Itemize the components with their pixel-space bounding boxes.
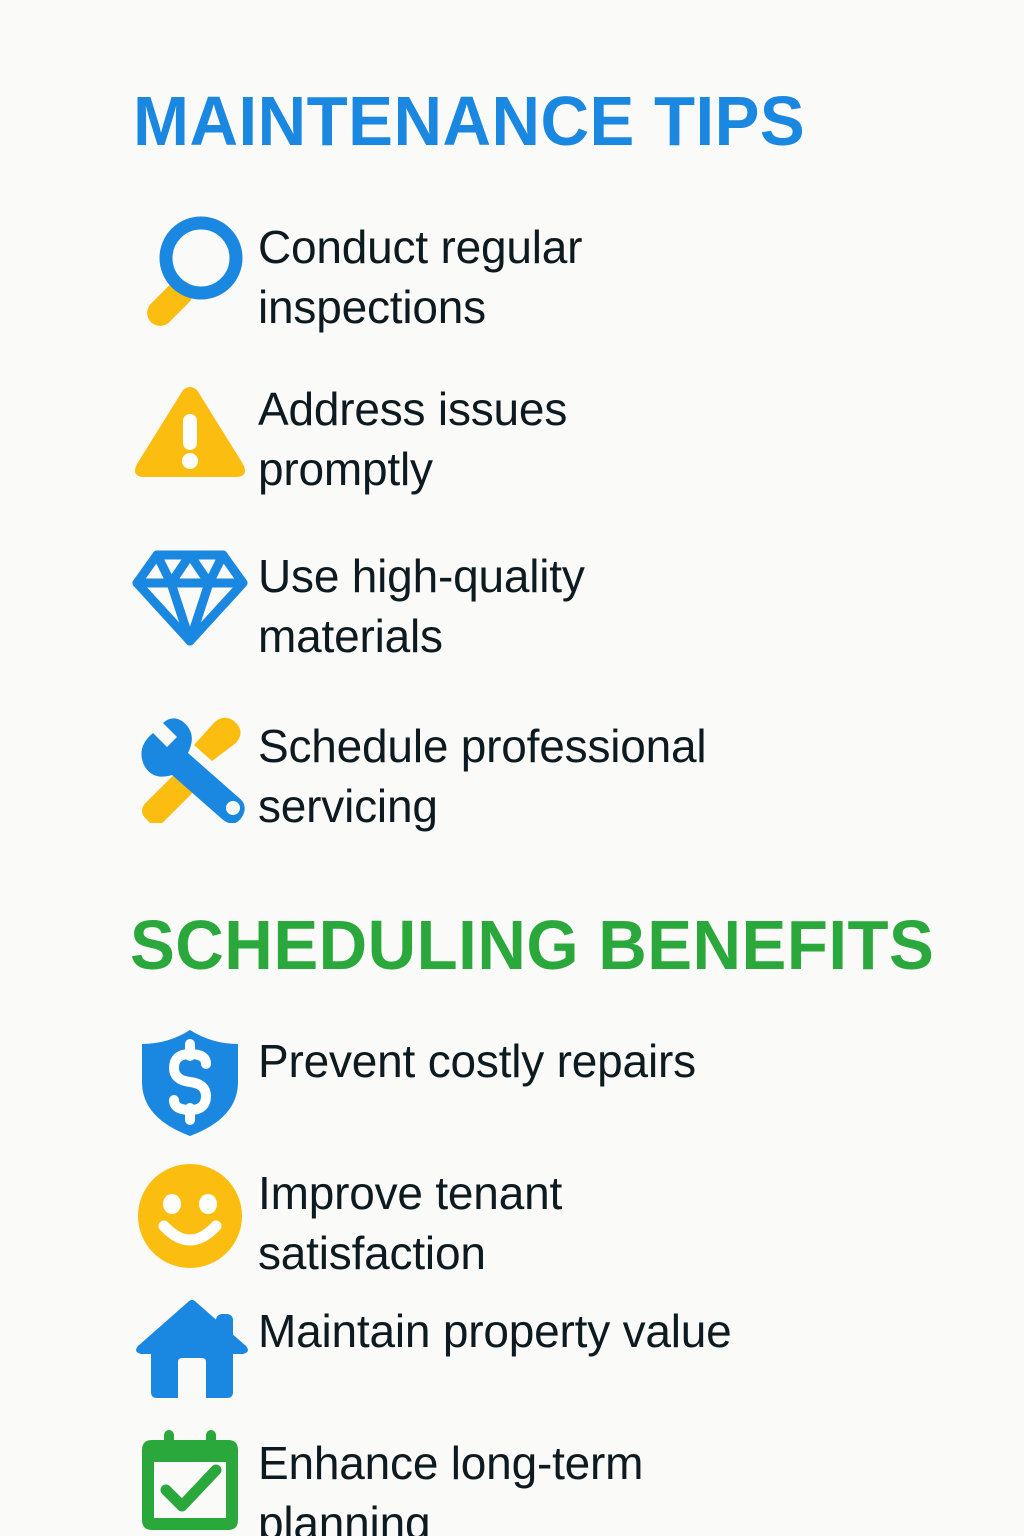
- house-icon: [122, 1296, 258, 1400]
- smiley-face-icon: [122, 1162, 258, 1270]
- list-item: Maintain property value: [122, 1296, 732, 1400]
- infographic-canvas: MAINTENANCE TIPS Conduct regular inspect…: [0, 0, 1024, 1536]
- warning-triangle-icon: [122, 378, 258, 486]
- calendar-check-icon: [122, 1428, 258, 1532]
- list-item: Enhance long-term planning: [122, 1428, 643, 1536]
- section-heading-maintenance-tips: MAINTENANCE TIPS: [133, 86, 805, 156]
- list-item-label: Address issues promptly: [258, 378, 567, 500]
- list-item: Prevent costly repairs: [122, 1026, 696, 1138]
- section-heading-scheduling-benefits: SCHEDULING BENEFITS: [130, 910, 934, 980]
- list-item: Conduct regular inspections: [122, 212, 582, 338]
- list-item: Improve tenant satisfaction: [122, 1162, 562, 1284]
- shield-dollar-icon: [122, 1026, 258, 1138]
- list-item-label: Prevent costly repairs: [258, 1026, 696, 1092]
- list-item-label: Conduct regular inspections: [258, 212, 582, 338]
- list-item: Address issues promptly: [122, 378, 567, 500]
- diamond-icon: [122, 545, 258, 649]
- list-item-label: Schedule professional servicing: [258, 711, 706, 837]
- wrench-screwdriver-icon: [122, 711, 258, 823]
- list-item-label: Maintain property value: [258, 1296, 732, 1362]
- list-item-label: Enhance long-term planning: [258, 1428, 643, 1536]
- magnifier-icon: [122, 212, 258, 330]
- list-item: Use high-quality materials: [122, 545, 585, 667]
- list-item: Schedule professional servicing: [122, 711, 706, 837]
- list-item-label: Improve tenant satisfaction: [258, 1162, 562, 1284]
- list-item-label: Use high-quality materials: [258, 545, 585, 667]
